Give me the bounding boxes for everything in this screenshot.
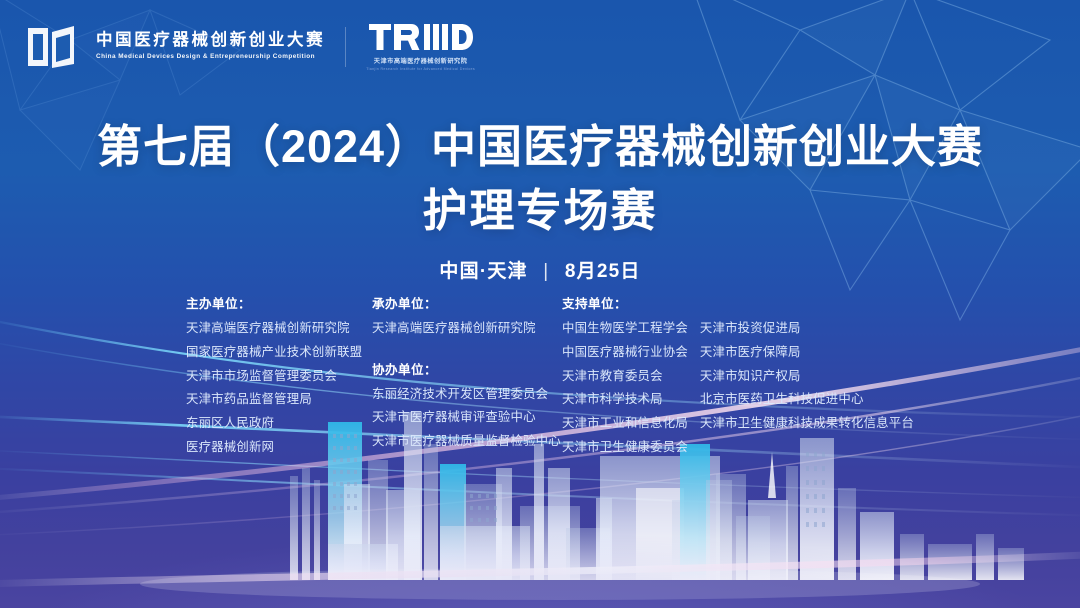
host-column: 主办单位： 天津高端医疗器械创新研究院 国家医疗器械产业技术创新联盟 天津市市场… bbox=[186, 293, 372, 460]
event-poster: 中国医疗器械创新创业大赛 China Medical Devices Desig… bbox=[0, 0, 1080, 608]
host-item: 天津市市场监督管理委员会 bbox=[186, 365, 372, 389]
supporter-item: 天津市卫生健康委员会 bbox=[562, 436, 688, 460]
undertaker-item: 天津高端医疗器械创新研究院 bbox=[372, 317, 562, 341]
institute-name-en: Tianjin Research Institute for Advanced … bbox=[366, 67, 475, 71]
coorganizer-heading: 协办单位： bbox=[372, 359, 562, 383]
competition-name-en: China Medical Devices Design & Entrepren… bbox=[96, 53, 325, 62]
location-text: 中国·天津 bbox=[439, 261, 527, 282]
host-item: 天津市药品监督管理局 bbox=[186, 388, 372, 412]
open-book-door-logo-mark-icon bbox=[26, 24, 78, 70]
host-item: 天津高端医疗器械创新研究院 bbox=[186, 317, 372, 341]
host-item: 医疗器械创新网 bbox=[186, 436, 372, 460]
location-date-line: 中国·天津 | 8月25日 bbox=[0, 256, 1080, 283]
institute-logo: 天津市高端医疗器械创新研究院 Tianjin Research Institut… bbox=[366, 22, 475, 71]
supporter-list-right: 天津市投资促进局 天津市医疗保障局 天津市知识产权局 北京市医药卫生科技促进中心… bbox=[700, 317, 914, 460]
host-item: 东丽区人民政府 bbox=[186, 412, 372, 436]
supporter-column: 支持单位： 中国生物医学工程学会 中国医疗器械行业协会 天津市教育委员会 天津市… bbox=[562, 293, 914, 460]
institute-name-cn: 天津市高端医疗器械创新研究院 bbox=[374, 56, 468, 65]
supporter-item: 北京市医药卫生科技促进中心 bbox=[700, 388, 914, 412]
poster-title: 第七届（2024）中国医疗器械创新创业大赛 护理专场赛 bbox=[0, 118, 1080, 239]
host-heading: 主办单位： bbox=[186, 293, 372, 317]
trimd-wordmark-icon bbox=[369, 22, 473, 52]
title-line-2: 护理专场赛 bbox=[0, 182, 1080, 240]
supporter-item: 天津市卫生健康科技成果转化信息平台 bbox=[700, 412, 914, 436]
undertaker-column: 承办单位： 天津高端医疗器械创新研究院 协办单位： 东丽经济技术开发区管理委员会… bbox=[372, 293, 562, 454]
supporter-heading: 支持单位： bbox=[562, 293, 914, 317]
supporter-item: 天津市教育委员会 bbox=[562, 365, 688, 389]
coorganizer-item: 东丽经济技术开发区管理委员会 bbox=[372, 383, 562, 407]
header-logo-bar: 中国医疗器械创新创业大赛 China Medical Devices Desig… bbox=[26, 22, 475, 71]
coorganizer-item: 天津市医疗器械质量监督检验中心 bbox=[372, 430, 562, 454]
supporter-item: 中国医疗器械行业协会 bbox=[562, 341, 688, 365]
supporter-lists: 中国生物医学工程学会 中国医疗器械行业协会 天津市教育委员会 天津市科学技术局 … bbox=[562, 317, 914, 460]
organizer-columns: 主办单位： 天津高端医疗器械创新研究院 国家医疗器械产业技术创新联盟 天津市市场… bbox=[186, 293, 960, 460]
supporter-item: 中国生物医学工程学会 bbox=[562, 317, 688, 341]
bottom-glow bbox=[0, 458, 1080, 608]
undertaker-heading: 承办单位： bbox=[372, 293, 562, 317]
competition-name-cn: 中国医疗器械创新创业大赛 bbox=[96, 31, 325, 50]
logo-divider bbox=[345, 27, 346, 67]
supporter-list-left: 中国生物医学工程学会 中国医疗器械行业协会 天津市教育委员会 天津市科学技术局 … bbox=[562, 317, 688, 460]
supporter-item: 天津市医疗保障局 bbox=[700, 341, 914, 365]
supporter-item: 天津市科学技术局 bbox=[562, 388, 688, 412]
separator: | bbox=[543, 261, 549, 283]
title-line-1: 第七届（2024）中国医疗器械创新创业大赛 bbox=[0, 118, 1080, 176]
date-text: 8月25日 bbox=[565, 261, 641, 282]
supporter-item: 天津市工业和信息化局 bbox=[562, 412, 688, 436]
host-item: 国家医疗器械产业技术创新联盟 bbox=[186, 341, 372, 365]
supporter-item: 天津市投资促进局 bbox=[700, 317, 914, 341]
section-spacer bbox=[372, 341, 562, 359]
competition-logo-text: 中国医疗器械创新创业大赛 China Medical Devices Desig… bbox=[96, 31, 325, 62]
supporter-item: 天津市知识产权局 bbox=[700, 365, 914, 389]
coorganizer-item: 天津市医疗器械审评查验中心 bbox=[372, 406, 562, 430]
